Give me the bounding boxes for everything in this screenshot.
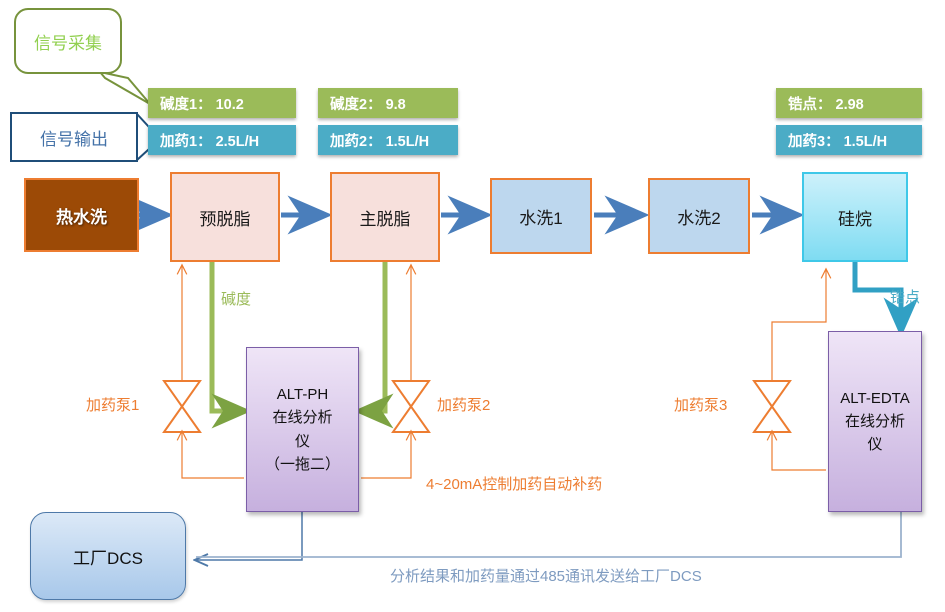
- process-stage-label: 硅烷: [838, 205, 872, 230]
- process-diagram-canvas: 信号采集 信号输出 碱度1： 10.2 加药1： 2.5L/H 碱度2： 9.8…: [0, 0, 945, 612]
- dosing-pump-3-label: 加药泵3: [674, 394, 727, 415]
- process-stage-label: 热水洗: [56, 203, 107, 228]
- callout-signal-output-label: 信号输出: [40, 125, 108, 150]
- analyzer-desc-line-3: （一拖二）: [265, 453, 340, 476]
- analyzer-desc-line-2: 仪: [840, 433, 909, 456]
- process-stage-label: 水洗1: [519, 204, 562, 229]
- process-stage-main-degreasing[interactable]: 主脱脂: [330, 172, 440, 262]
- control-loop-note: 4~20mA控制加药自动补药: [426, 473, 602, 494]
- control-wiring-loop3: [772, 270, 826, 470]
- measurement-tag-alkalinity-2: 碱度2： 9.8: [318, 88, 458, 118]
- dosing-tag-1: 加药1： 2.5L/H: [148, 125, 296, 155]
- analyzer-desc-line-2: 仪: [265, 430, 340, 453]
- tag-value: 加药1： 2.5L/H: [160, 130, 259, 151]
- process-stage-label: 水洗2: [677, 204, 720, 229]
- analyzer-alt-edta[interactable]: ALT-EDTA 在线分析 仪: [828, 331, 922, 512]
- analyzer-desc-line-1: 在线分析: [265, 406, 340, 429]
- comms-485-lines: [196, 512, 901, 560]
- tag-value: 碱度2： 9.8: [330, 93, 406, 114]
- dosing-tag-3: 加药3： 1.5L/H: [776, 125, 922, 155]
- plant-dcs-node[interactable]: 工厂DCS: [30, 512, 186, 600]
- analyzer-model: ALT-EDTA: [840, 387, 909, 410]
- analyzer-desc-line-1: 在线分析: [840, 410, 909, 433]
- tag-value: 加药2： 1.5L/H: [330, 130, 429, 151]
- measurement-tag-zirconium: 锆点： 2.98: [776, 88, 922, 118]
- dosing-tag-2: 加药2： 1.5L/H: [318, 125, 458, 155]
- zirconium-signal-label: 锆点: [890, 286, 920, 307]
- callout-signal-acquisition: 信号采集: [14, 8, 122, 74]
- analyzer-alt-ph[interactable]: ALT-PH 在线分析 仪 （一拖二）: [246, 347, 359, 512]
- process-stage-label: 预脱脂: [200, 205, 251, 230]
- tag-value: 加药3： 1.5L/H: [788, 130, 887, 151]
- alkalinity-signal-label: 碱度: [221, 288, 251, 309]
- process-stage-rinse-2[interactable]: 水洗2: [648, 178, 750, 254]
- process-stage-rinse-1[interactable]: 水洗1: [490, 178, 592, 254]
- plant-dcs-label: 工厂DCS: [73, 544, 143, 569]
- dosing-pump-1-label: 加药泵1: [86, 394, 139, 415]
- process-stage-hot-water-wash[interactable]: 热水洗: [24, 178, 139, 252]
- tag-value: 碱度1： 10.2: [160, 93, 244, 114]
- callout-signal-output: 信号输出: [10, 112, 138, 162]
- process-stage-label: 主脱脂: [360, 205, 411, 230]
- callout-signal-acquisition-label: 信号采集: [34, 29, 102, 54]
- process-stage-pre-degreasing[interactable]: 预脱脂: [170, 172, 280, 262]
- analyzer-model: ALT-PH: [265, 383, 340, 406]
- process-stage-silane[interactable]: 硅烷: [802, 172, 908, 262]
- comms-note: 分析结果和加药量通过485通讯发送给工厂DCS: [390, 565, 702, 586]
- dosing-pump-2-label: 加药泵2: [437, 394, 490, 415]
- measurement-tag-alkalinity-1: 碱度1： 10.2: [148, 88, 296, 118]
- callout-tail-signal-acquisition: [100, 72, 150, 104]
- tag-value: 锆点： 2.98: [788, 93, 864, 114]
